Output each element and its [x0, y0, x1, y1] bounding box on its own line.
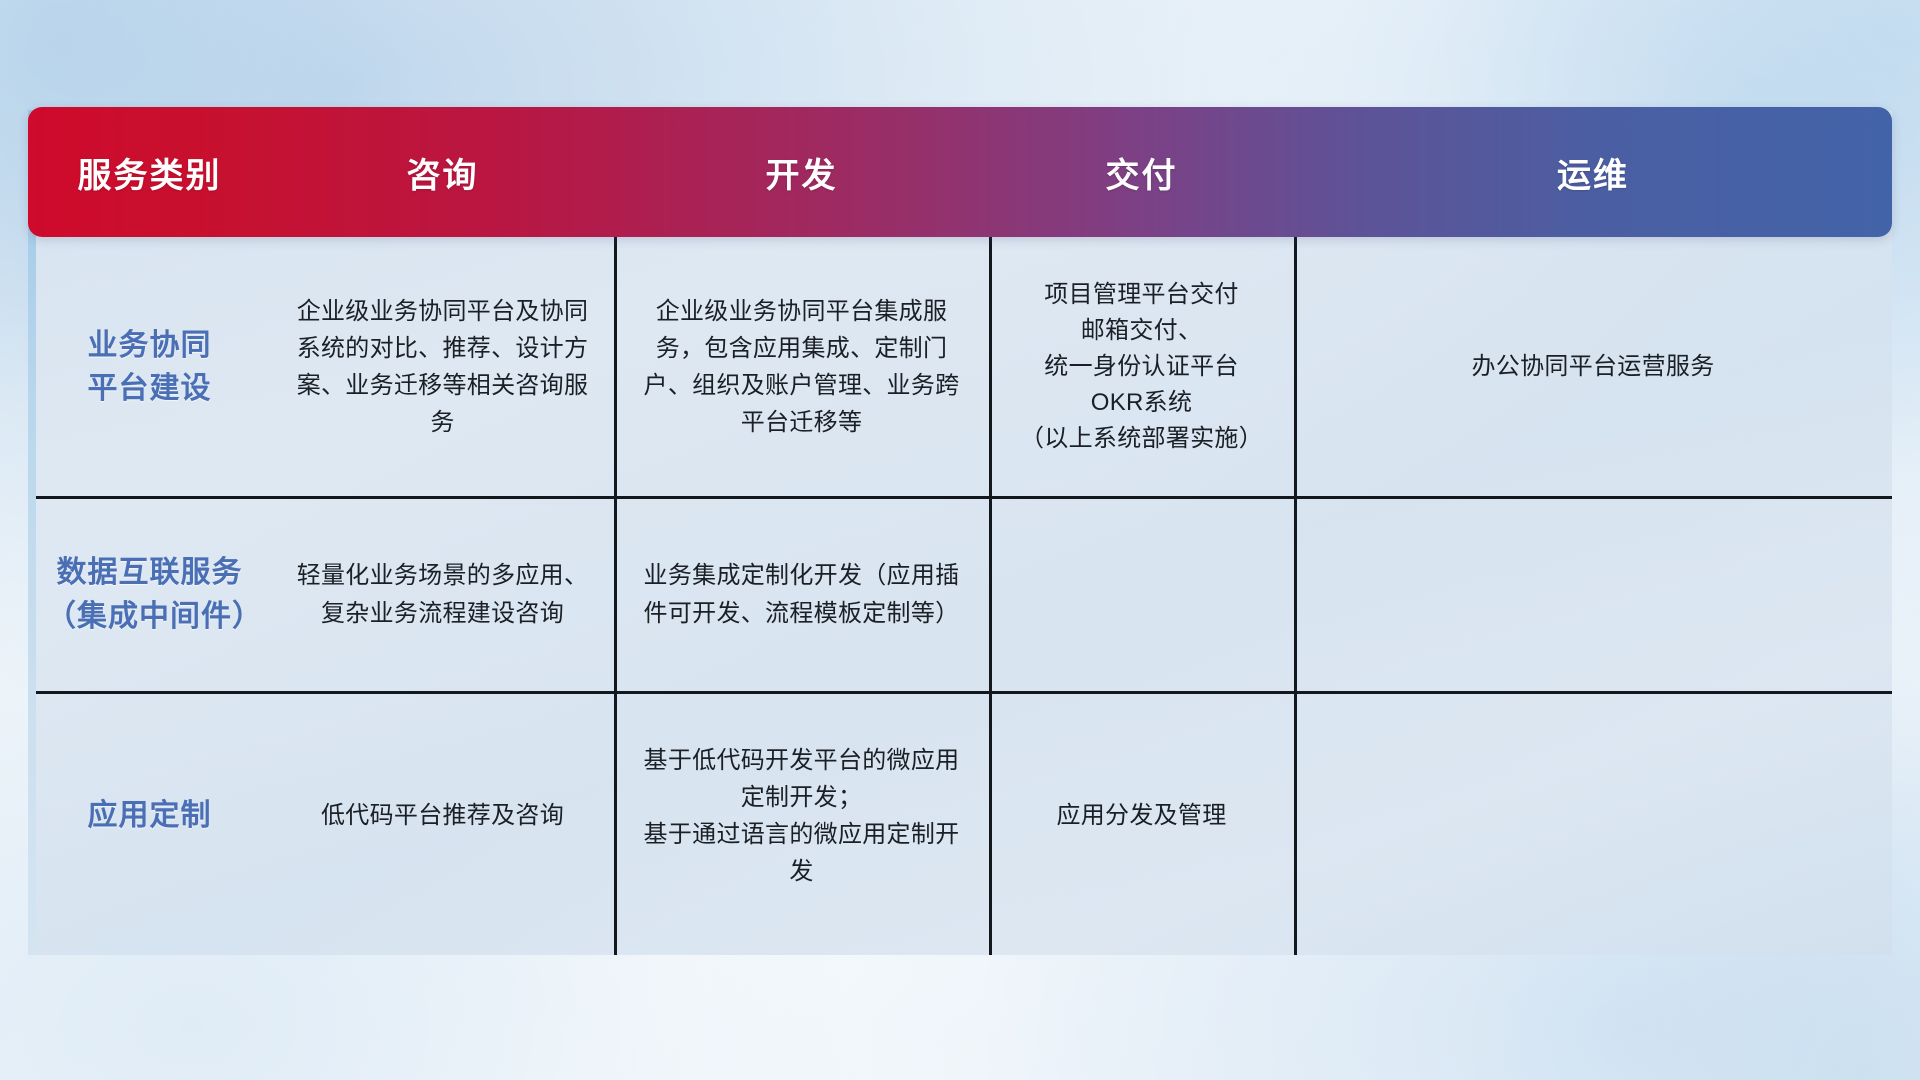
row-1-operations-cell: 办公协同平台运营服务 [1294, 237, 1892, 497]
header-cell-category: 服务类别 [28, 138, 271, 207]
row-2-operations-cell [1294, 497, 1892, 692]
row-3-category-line-1: 应用定制 [88, 799, 212, 832]
row-1-category-line-1: 业务协同 [88, 329, 212, 362]
row-2-category-label: 数据互联服务 （集成中间件） [46, 551, 253, 638]
header-cell-development: 开发 [614, 138, 989, 207]
table-header-row: 服务类别 咨询 开发 交付 运维 [28, 107, 1892, 237]
row-1-development-cell: 企业级业务协同平台集成服务，包含应用集成、定制门户、组织及账户管理、业务跨平台迁… [614, 237, 989, 497]
row-3-development-cell: 基于低代码开发平台的微应用定制开发；基于通过语言的微应用定制开发 [614, 692, 989, 940]
row-1-development-text: 企业级业务协同平台集成服务，包含应用集成、定制门户、组织及账户管理、业务跨平台迁… [632, 293, 971, 442]
table-row: 业务协同 平台建设 企业级业务协同平台及协同系统的对比、推荐、设计方案、业务迁移… [28, 237, 1892, 497]
row-2-consulting-cell: 轻量化业务场景的多应用、复杂业务流程建设咨询 [271, 497, 614, 692]
row-1-consulting-cell: 企业级业务协同平台及协同系统的对比、推荐、设计方案、业务迁移等相关咨询服务 [271, 237, 614, 497]
row-1-operations-text: 办公协同平台运营服务 [1472, 348, 1715, 385]
row-3-consulting-cell: 低代码平台推荐及咨询 [271, 692, 614, 940]
header-cell-delivery: 交付 [989, 138, 1294, 207]
row-1-delivery-cell: 项目管理平台交付邮箱交付、统一身份认证平台OKR系统（以上系统部署实施） [989, 237, 1294, 497]
row-2-category-line-2: （集成中间件） [46, 600, 263, 633]
column-divider-development-delivery [989, 237, 992, 955]
row-3-category-cell: 应用定制 [28, 692, 271, 940]
header-cell-operations: 运维 [1294, 138, 1892, 207]
row-1-delivery-text: 项目管理平台交付邮箱交付、统一身份认证平台OKR系统（以上系统部署实施） [1020, 277, 1263, 457]
row-2-consulting-text: 轻量化业务场景的多应用、复杂业务流程建设咨询 [289, 557, 596, 631]
service-category-table: 服务类别 咨询 开发 交付 运维 业务协同 平台建设 [28, 110, 1892, 955]
column-divider-delivery-operations [1294, 237, 1297, 955]
row-1-category-cell: 业务协同 平台建设 [28, 237, 271, 497]
row-1-consulting-text: 企业级业务协同平台及协同系统的对比、推荐、设计方案、业务迁移等相关咨询服务 [289, 293, 596, 442]
header-cell-consulting: 咨询 [271, 138, 614, 207]
row-3-operations-cell [1294, 692, 1892, 940]
table-row: 应用定制 低代码平台推荐及咨询 基于低代码开发平台的微应用定制开发；基于通过语言… [28, 692, 1892, 940]
table-body: 业务协同 平台建设 企业级业务协同平台及协同系统的对比、推荐、设计方案、业务迁移… [28, 237, 1892, 955]
table-row: 数据互联服务 （集成中间件） 轻量化业务场景的多应用、复杂业务流程建设咨询 业务… [28, 497, 1892, 692]
row-3-development-text: 基于低代码开发平台的微应用定制开发；基于通过语言的微应用定制开发 [632, 742, 971, 891]
row-1-category-label: 业务协同 平台建设 [88, 324, 212, 411]
row-3-delivery-cell: 应用分发及管理 [989, 692, 1294, 940]
row-2-development-text: 业务集成定制化开发（应用插件可开发、流程模板定制等） [632, 557, 971, 631]
row-2-category-cell: 数据互联服务 （集成中间件） [28, 497, 271, 692]
row-2-category-line-1: 数据互联服务 [57, 556, 243, 589]
row-divider-2 [36, 691, 1892, 694]
row-3-category-label: 应用定制 [88, 794, 212, 838]
row-2-delivery-cell [989, 497, 1294, 692]
row-3-delivery-text: 应用分发及管理 [1056, 797, 1226, 834]
table-card: 服务类别 咨询 开发 交付 运维 业务协同 平台建设 [28, 110, 1892, 955]
row-2-development-cell: 业务集成定制化开发（应用插件可开发、流程模板定制等） [614, 497, 989, 692]
row-1-category-line-2: 平台建设 [88, 372, 212, 405]
row-3-consulting-text: 低代码平台推荐及咨询 [321, 797, 564, 834]
row-divider-1 [36, 496, 1892, 499]
column-divider-consulting-development [614, 237, 617, 955]
